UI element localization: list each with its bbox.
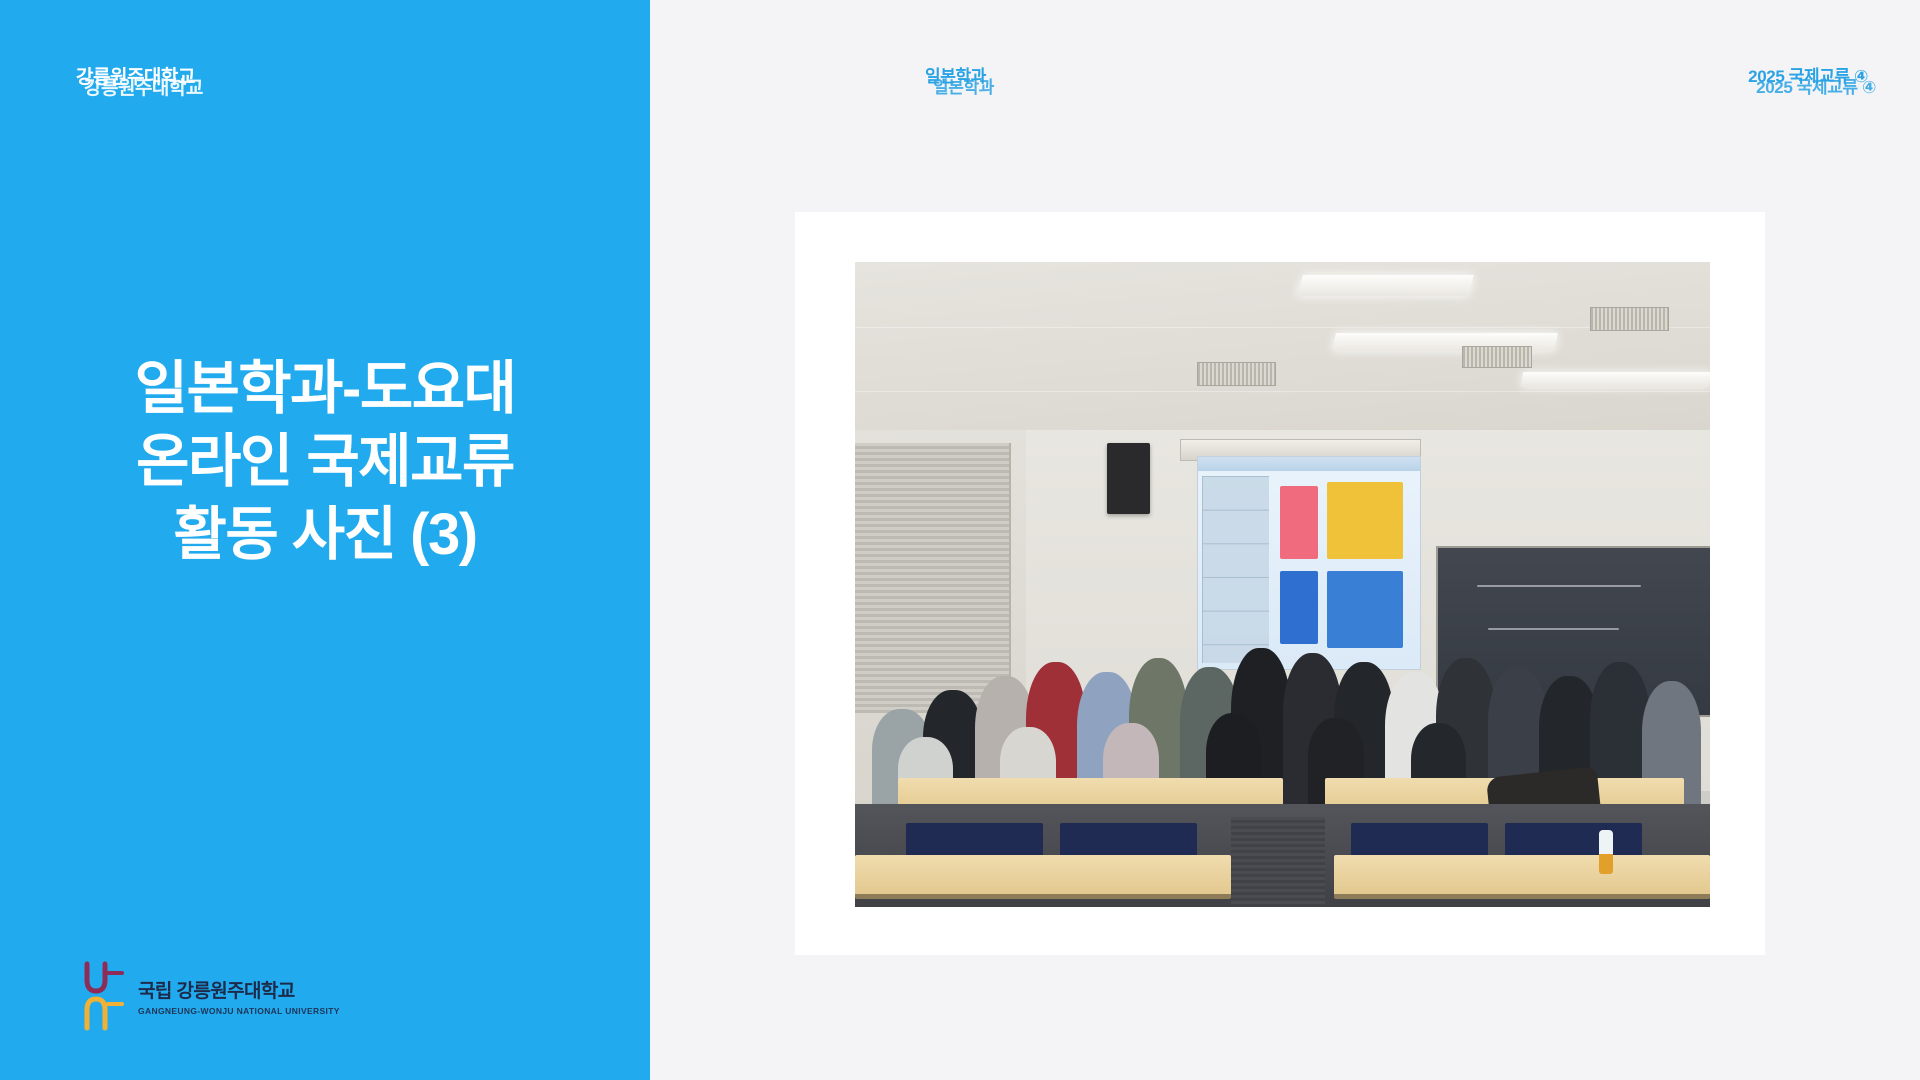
screen-browser-bar bbox=[1198, 457, 1420, 472]
university-name-english: GANGNEUNG-WONJU NATIONAL UNIVERSITY bbox=[138, 1006, 340, 1016]
page-title: 일본학과-도요대 온라인 국제교류 활동 사진 (3) bbox=[0, 352, 650, 571]
gwnu-un-symbol-icon bbox=[78, 960, 124, 1032]
group-photo bbox=[855, 262, 1710, 907]
header-center-shadow: 일본학과 bbox=[933, 73, 994, 98]
university-logo: 국립 강릉원주대학교 GANGNEUNG-WONJU NATIONAL UNIV… bbox=[78, 960, 340, 1032]
panel-brand-label-shadow: 강릉원주대학교 bbox=[84, 73, 203, 100]
page-title-line-3: 활동 사진 (3) bbox=[40, 498, 610, 571]
university-logo-text: 국립 강릉원주대학교 GANGNEUNG-WONJU NATIONAL UNIV… bbox=[138, 976, 340, 1016]
left-accent-panel: 강릉원주대학교 강릉원주대학교 일본학과-도요대 온라인 국제교류 활동 사진 … bbox=[0, 0, 650, 1080]
water-bottle bbox=[1599, 830, 1613, 874]
ceiling-seam bbox=[855, 391, 1710, 392]
ceiling-seam bbox=[855, 327, 1710, 328]
photo-card bbox=[795, 212, 1765, 955]
ceiling-light bbox=[1297, 275, 1474, 296]
chalk-writing bbox=[1477, 585, 1641, 587]
header-right-shadow: 2025 국제교류 ④ bbox=[1756, 73, 1876, 98]
ceiling-vent bbox=[1590, 307, 1669, 331]
screen-japanese-top-block bbox=[1327, 482, 1403, 559]
ceiling-vent bbox=[1462, 346, 1532, 369]
header-right-label: 2025 국제교류 ④ 2025 국제교류 ④ bbox=[1748, 62, 1868, 87]
screen-korean-top-block bbox=[1280, 486, 1318, 558]
ceiling-vent bbox=[1197, 362, 1276, 386]
page-title-line-2: 온라인 국제교류 bbox=[40, 425, 610, 498]
ceiling-light bbox=[1521, 372, 1710, 387]
classroom-desk bbox=[855, 855, 1231, 899]
classroom-desk bbox=[1334, 855, 1710, 899]
page-title-line-1: 일본학과-도요대 bbox=[40, 352, 610, 425]
panel-brand-label: 강릉원주대학교 강릉원주대학교 bbox=[76, 62, 195, 89]
university-name-korean: 국립 강릉원주대학교 bbox=[138, 976, 340, 1003]
header-center-label: 일본학과 일본학과 bbox=[925, 62, 986, 87]
floor-aisle bbox=[1231, 817, 1325, 907]
slide-root: 강릉원주대학교 강릉원주대학교 일본학과-도요대 온라인 국제교류 활동 사진 … bbox=[0, 0, 1920, 1080]
ceiling-speaker-icon bbox=[1107, 443, 1150, 514]
